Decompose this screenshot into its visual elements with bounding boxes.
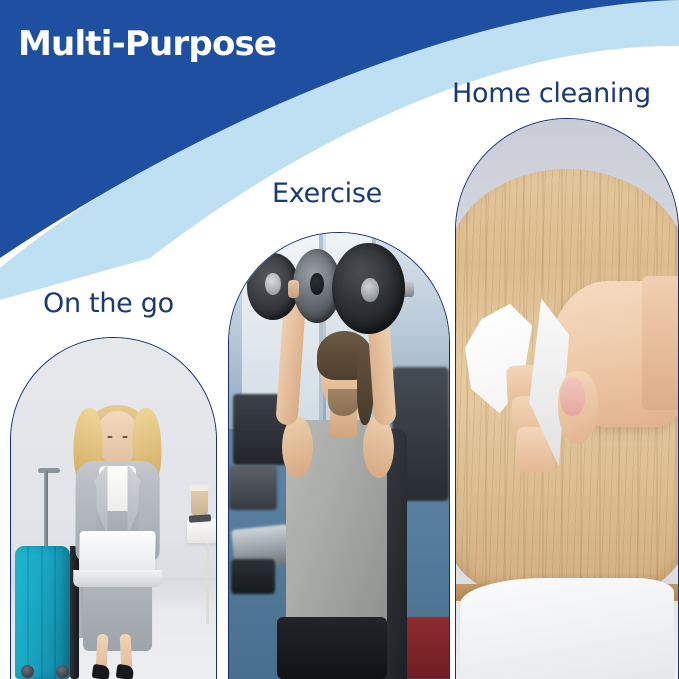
panel-label-on-the-go: On the go: [43, 290, 174, 317]
shoulder-right: [363, 416, 394, 478]
panel-label-home-cleaning: Home cleaning: [452, 80, 651, 107]
seated-woman: [56, 399, 179, 679]
page-title: Multi-Purpose: [18, 27, 276, 61]
weight-plate-center: [265, 273, 280, 295]
panel-label-exercise: Exercise: [272, 180, 382, 207]
panel-on-the-go: [10, 337, 217, 679]
legs-trousers: [83, 578, 152, 651]
suitcase-handle: [44, 471, 48, 549]
photo-exercise: [229, 233, 449, 679]
wrist: [642, 276, 679, 410]
gym-equipment: [229, 465, 277, 510]
weight-plate-center: [361, 278, 379, 303]
photo-on-the-go: [11, 338, 216, 679]
panel-exercise: [228, 232, 450, 679]
gripping-hand: [288, 280, 299, 298]
thumb-nail: [560, 377, 584, 416]
side-table-leg: [206, 543, 209, 625]
photo-home-cleaning: [456, 119, 678, 679]
laptop-base: [73, 570, 162, 587]
white-surface-below: [460, 578, 673, 679]
black-pants: [277, 617, 387, 679]
panel-home-cleaning: [455, 118, 679, 679]
shoulder-left: [282, 416, 313, 478]
weight-plate-center: [310, 273, 323, 295]
laptop-screen: [79, 531, 156, 573]
infographic-canvas: Multi-Purpose On the go Exercise Home cl…: [0, 0, 679, 679]
shoe-left: [92, 664, 111, 679]
gym-equipment: [231, 559, 275, 595]
beard: [328, 389, 359, 416]
coffee-cup-lid: [189, 485, 209, 491]
coffee-cup: [191, 488, 208, 516]
